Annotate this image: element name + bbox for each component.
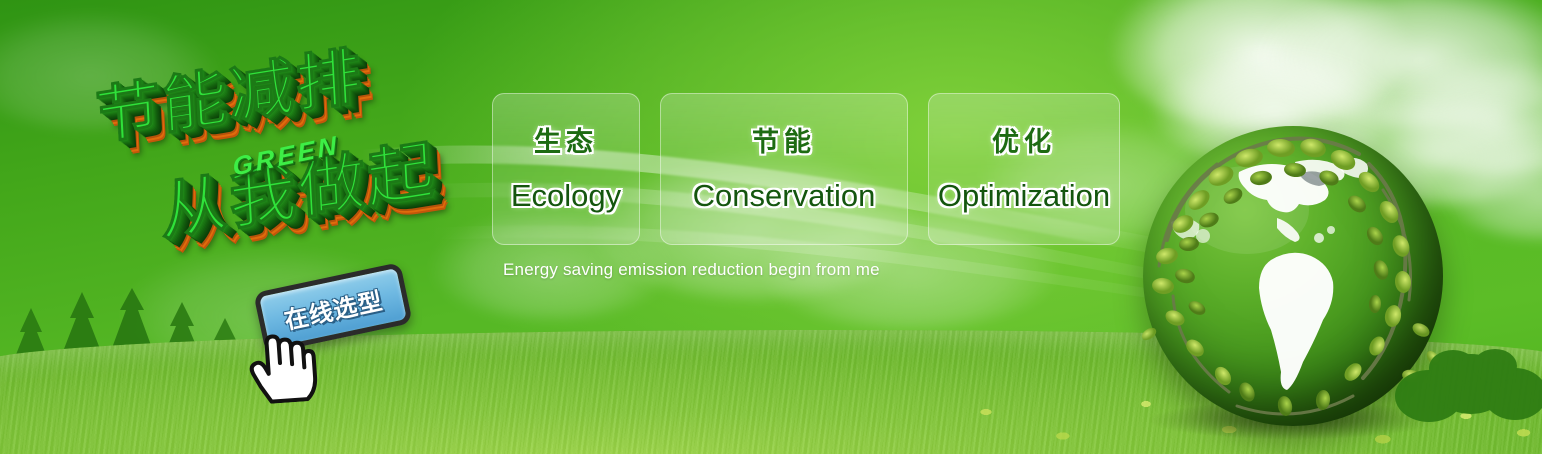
shrub-cluster [1395, 338, 1542, 424]
feature-card-ecology[interactable]: 生态 Ecology [492, 93, 640, 245]
feature-card-group: 生态 Ecology 节能 Conservation 优化 Optimizati… [492, 93, 1120, 245]
cloud [1440, 140, 1542, 240]
online-selection-button-label: 在线选型 [280, 280, 385, 335]
banner-tagline: Energy saving emission reduction begin f… [503, 260, 880, 280]
feature-card-cn-label: 优化 [992, 120, 1056, 159]
cloud [1110, 0, 1410, 130]
feature-card-en-label: Conservation [693, 178, 876, 214]
feature-card-en-label: Optimization [938, 178, 1110, 214]
feature-card-cn-label: 生态 [534, 120, 598, 159]
banner-root: 节能减排 GREEN 从我做起 在线选型 生态 Ecology 节能 Conse… [0, 0, 1542, 454]
cloud [1255, 0, 1542, 128]
feature-card-optimization[interactable]: 优化 Optimization [928, 93, 1120, 245]
feature-card-cn-label: 节能 [752, 120, 816, 159]
feature-card-conservation[interactable]: 节能 Conservation [660, 93, 908, 245]
feature-card-en-label: Ecology [511, 178, 621, 214]
headline-artwork: 节能减排 GREEN 从我做起 [90, 26, 501, 277]
